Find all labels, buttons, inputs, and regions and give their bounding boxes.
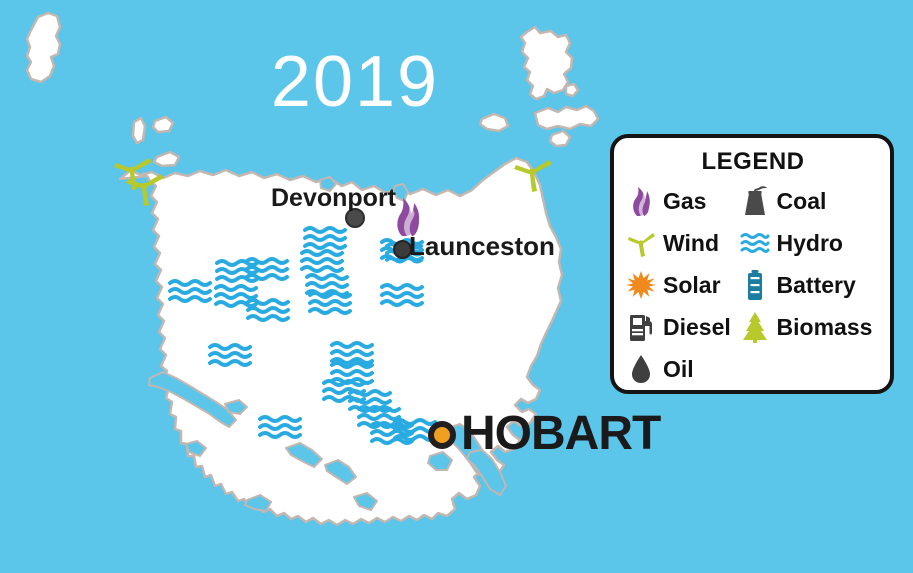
legend-item-biomass: Biomass — [740, 308, 880, 346]
map-marker-hydro-waves-icon — [308, 290, 354, 316]
wind-turbine-icon — [626, 226, 656, 260]
legend-item-coal: Coal — [740, 182, 880, 220]
legend-label-biomass: Biomass — [777, 314, 873, 341]
map-marker-hydro-waves-icon — [380, 282, 426, 308]
legend-item-solar: Solar — [626, 266, 740, 304]
gas-flame-icon — [626, 184, 656, 218]
legend-label-solar: Solar — [663, 272, 721, 299]
legend-label-hydro: Hydro — [777, 230, 843, 257]
legend-item-gas: Gas — [626, 182, 740, 220]
hydro-waves-icon — [740, 226, 770, 260]
legend-label-diesel: Diesel — [663, 314, 731, 341]
capital-dot-icon-hobart — [428, 421, 456, 449]
legend-label-battery: Battery — [777, 272, 856, 299]
legend-label-wind: Wind — [663, 230, 719, 257]
map-marker-hydro-waves-icon — [246, 297, 292, 323]
map-marker-wind-turbine-icon — [510, 150, 554, 194]
map-marker-hydro-waves-icon — [245, 256, 291, 282]
map-marker-gas-flame-icon — [392, 192, 426, 236]
legend-label-gas: Gas — [663, 188, 706, 215]
legend-item-battery: Battery — [740, 266, 880, 304]
legend-item-wind: Wind — [626, 224, 740, 262]
map-marker-hydro-waves-icon — [208, 342, 254, 368]
legend-label-coal: Coal — [777, 188, 827, 215]
legend-title: LEGEND — [626, 148, 880, 176]
biomass-tree-icon — [740, 310, 770, 344]
city-label-launceston: Launceston — [409, 233, 555, 259]
page-title: 2019 — [255, 46, 455, 118]
coal-tower-icon — [740, 184, 770, 218]
map-marker-wind-turbine-icon — [122, 164, 166, 208]
map-marker-hydro-waves-icon — [258, 414, 304, 440]
map-infographic: 2019 — [0, 0, 913, 573]
map-marker-hydro-waves-icon — [168, 278, 214, 304]
legend-item-hydro: Hydro — [740, 224, 880, 262]
diesel-pump-icon — [626, 310, 656, 344]
legend-item-oil: Oil — [626, 350, 740, 388]
oil-droplet-icon — [626, 352, 656, 386]
map-marker-hydro-waves-icon — [300, 248, 346, 274]
battery-icon — [740, 268, 770, 302]
islet-north-a — [133, 118, 145, 143]
legend-panel: LEGEND Gas — [610, 134, 894, 394]
cape-barren-island — [535, 106, 598, 129]
legend-item-diesel: Diesel — [626, 308, 740, 346]
city-label-devonport: Devonport — [271, 186, 396, 211]
solar-sun-icon — [626, 268, 656, 302]
legend-label-oil: Oil — [663, 356, 694, 383]
city-label-hobart: HOBART — [461, 410, 660, 458]
